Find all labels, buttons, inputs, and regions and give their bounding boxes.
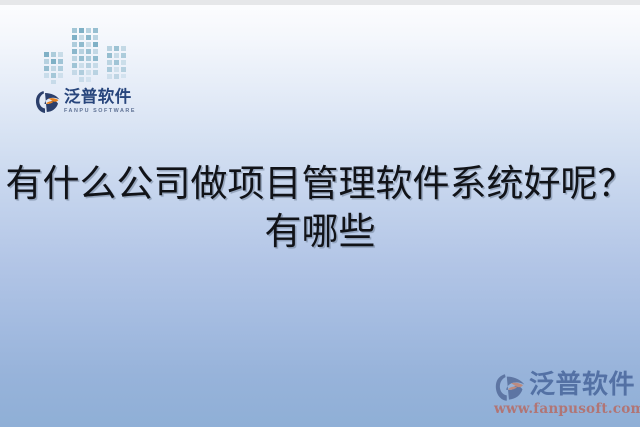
brand-lockup: 泛普软件 FANPU SOFTWARE [34, 88, 146, 118]
top-strip [0, 0, 640, 5]
brand-name-cn: 泛普软件 [64, 88, 146, 106]
watermark-url: www.fanpusoft.com [494, 401, 640, 418]
brand-words: 泛普软件 FANPU SOFTWARE [64, 88, 146, 115]
fanpu-logo-mark-icon [494, 373, 528, 402]
page-title-line-1: 有什么公司做项目管理软件系统好呢？ [6, 162, 635, 205]
fanpu-logo-mark-icon [35, 90, 62, 114]
brand-block: 泛普软件 FANPU SOFTWARE [34, 24, 146, 118]
pixel-skyline-icon [34, 24, 146, 86]
page-title: 有什么公司做项目管理软件系统好呢？ 有哪些 [0, 160, 640, 256]
watermark-logo-row: 泛普软件 [492, 370, 638, 402]
watermark: 泛普软件 www.fanpusoft.com [492, 370, 638, 422]
page-title-line-2: 有哪些 [0, 208, 640, 256]
brand-name-en: FANPU SOFTWARE [64, 107, 146, 115]
slide-canvas: 泛普软件 FANPU SOFTWARE 有什么公司做项目管理软件系统好呢？ 有哪… [0, 0, 640, 427]
watermark-name-cn: 泛普软件 [529, 370, 635, 400]
